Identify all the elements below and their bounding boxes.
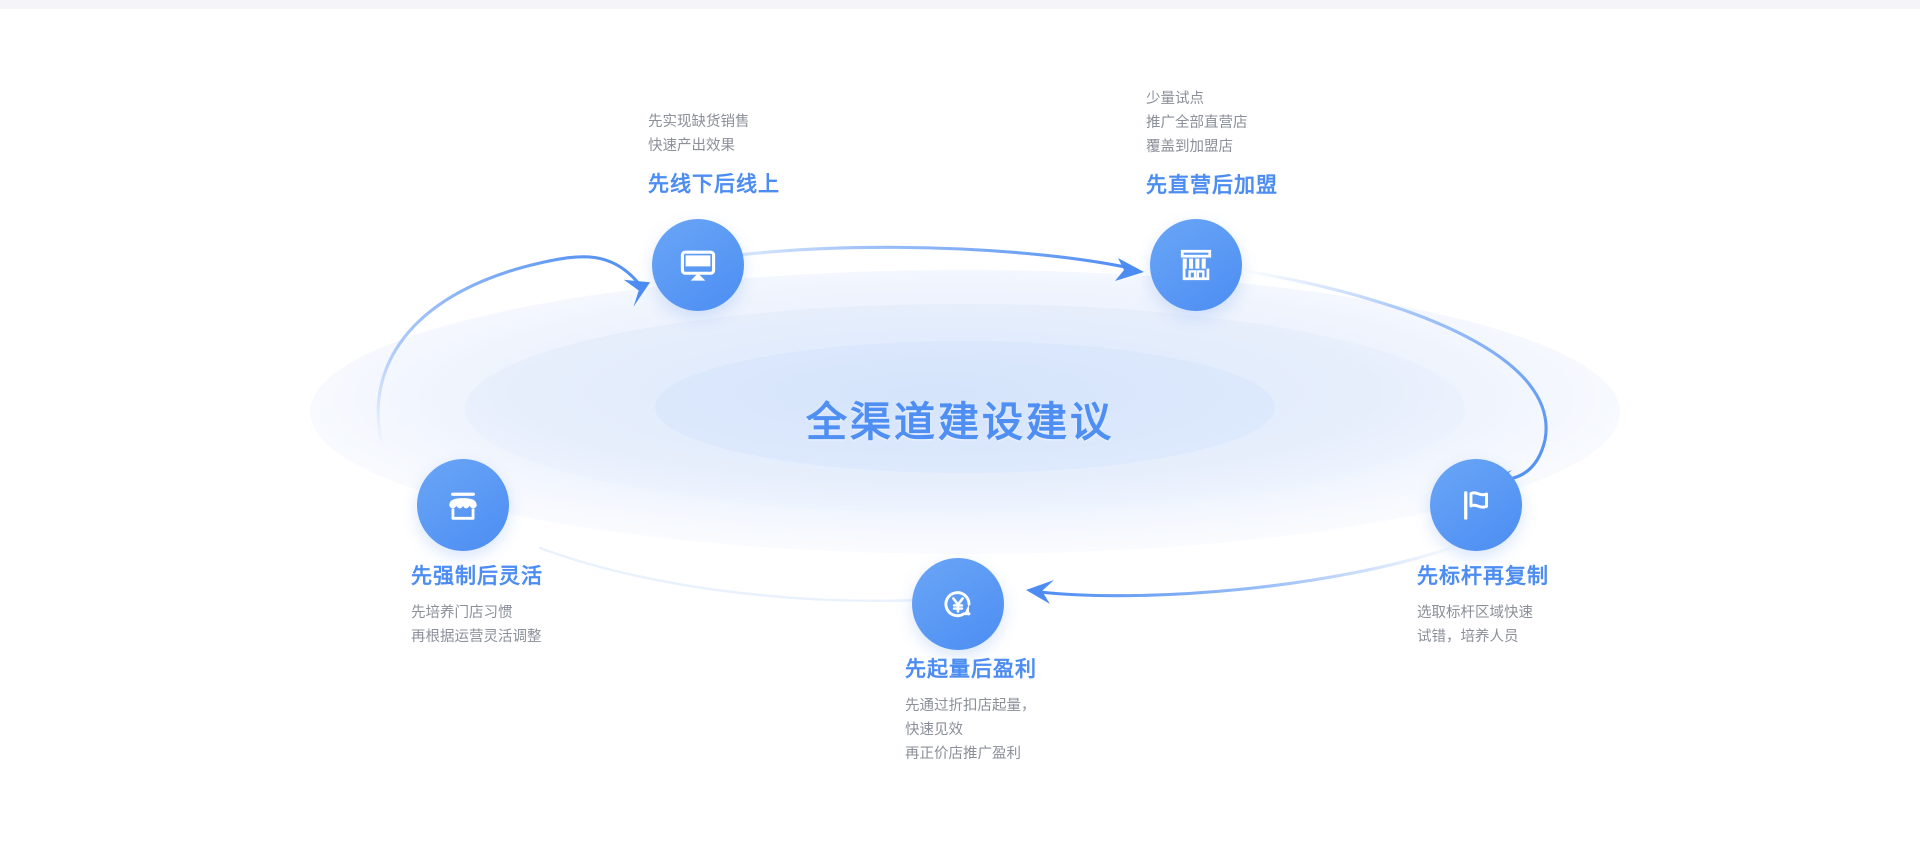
node-title-direct-then-franchise: 先直营后加盟 (1146, 171, 1278, 201)
node-title-mandatory-then-flexible: 先强制后灵活 (411, 562, 543, 592)
node-icon-mandatory-then-flexible[interactable] (417, 459, 509, 551)
node-icon-offline-then-online[interactable] (652, 219, 744, 311)
desc-line: 推广全部直营店 (1146, 111, 1278, 135)
shop-awning-icon (441, 483, 485, 527)
arrow-yen-to-shop (540, 548, 920, 601)
node-text-mandatory-then-flexible: 先强制后灵活 先培养门店习惯 再根据运营灵活调整 (411, 562, 543, 649)
desc-line: 先通过折扣店起量， (905, 694, 1037, 718)
node-text-direct-then-franchise: 少量试点 推广全部直营店 覆盖到加盟店 先直营后加盟 (1146, 87, 1278, 201)
desc-line: 先实现缺货销售 (648, 110, 780, 134)
storefront-building-icon (1174, 243, 1218, 287)
node-desc-direct-then-franchise: 少量试点 推广全部直营店 覆盖到加盟店 (1146, 87, 1278, 159)
node-title-benchmark-then-replicate: 先标杆再复制 (1417, 562, 1549, 592)
node-title-volume-then-profit: 先起量后盈利 (905, 655, 1037, 685)
desc-line: 快速见效 (905, 718, 1037, 742)
desc-line: 试错，培养人员 (1417, 625, 1549, 649)
node-desc-volume-then-profit: 先通过折扣店起量， 快速见效 再正价店推广盈利 (905, 694, 1037, 766)
node-text-benchmark-then-replicate: 先标杆再复制 选取标杆区域快速 试错，培养人员 (1417, 562, 1549, 649)
desc-line: 快速产出效果 (648, 134, 780, 158)
arrow-flag-to-yen (1026, 545, 1460, 604)
desc-line: 少量试点 (1146, 87, 1278, 111)
node-desc-mandatory-then-flexible: 先培养门店习惯 再根据运营灵活调整 (411, 601, 543, 649)
flag-icon (1454, 483, 1498, 527)
yen-refresh-icon (936, 582, 980, 626)
node-text-volume-then-profit: 先起量后盈利 先通过折扣店起量， 快速见效 再正价店推广盈利 (905, 655, 1037, 766)
node-icon-direct-then-franchise[interactable] (1150, 219, 1242, 311)
desc-line: 选取标杆区域快速 (1417, 601, 1549, 625)
node-icon-benchmark-then-replicate[interactable] (1430, 459, 1522, 551)
node-desc-offline-then-online: 先实现缺货销售 快速产出效果 (648, 110, 780, 158)
node-text-offline-then-online: 先实现缺货销售 快速产出效果 先线下后线上 (648, 110, 780, 200)
diagram-stage: 全渠道建设建议 先实现缺货销售 快速产出效果 先线下后线上 (0, 0, 1920, 847)
desc-line: 再正价店推广盈利 (905, 742, 1037, 766)
monitor-icon (676, 243, 720, 287)
desc-line: 先培养门店习惯 (411, 601, 543, 625)
desc-line: 覆盖到加盟店 (1146, 135, 1278, 159)
desc-line: 再根据运营灵活调整 (411, 625, 543, 649)
node-title-offline-then-online: 先线下后线上 (648, 170, 780, 200)
node-desc-benchmark-then-replicate: 选取标杆区域快速 试错，培养人员 (1417, 601, 1549, 649)
node-icon-volume-then-profit[interactable] (912, 558, 1004, 650)
